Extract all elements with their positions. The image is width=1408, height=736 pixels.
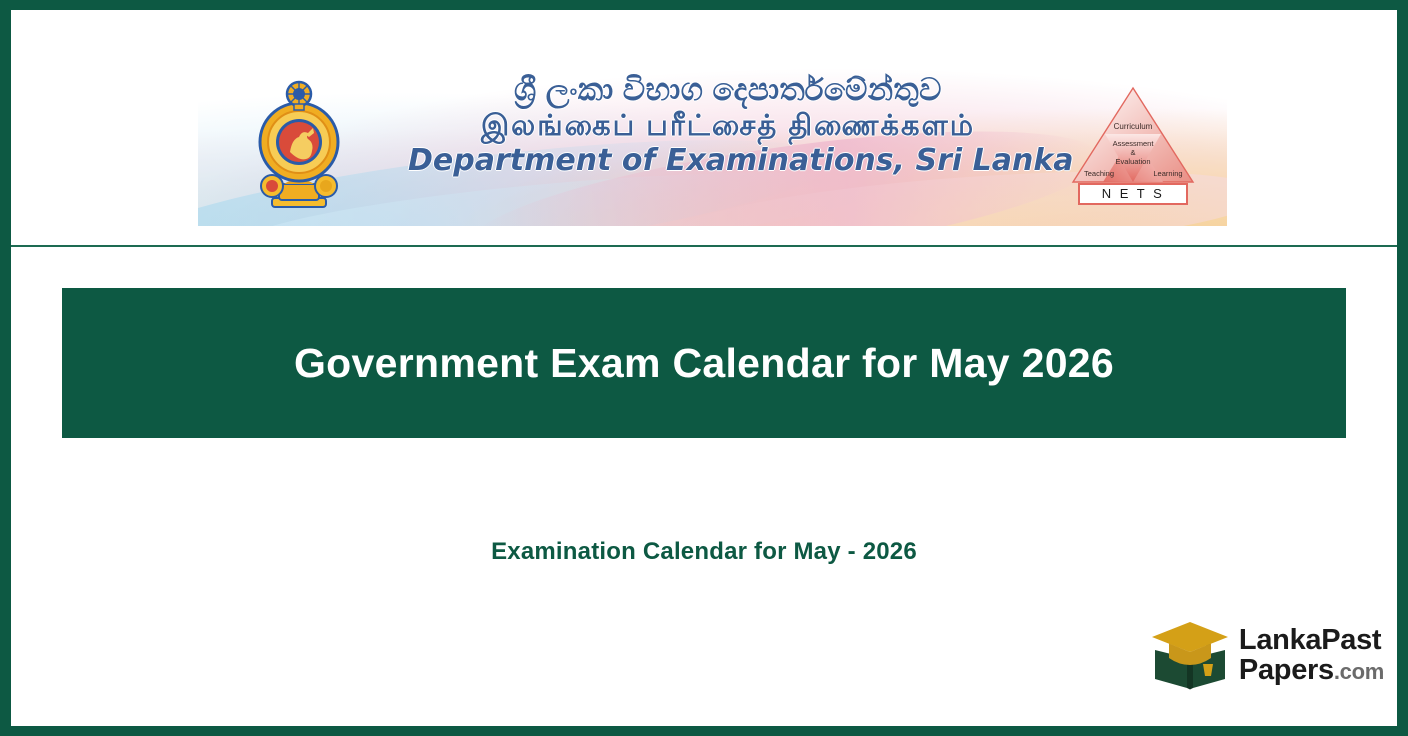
clipped-footer-text: Examination Calendar: [441, 717, 961, 726]
nets-acronym: N E T S: [1102, 186, 1165, 201]
department-name-english: Department of Examinations, Sri Lanka: [408, 143, 1048, 178]
nets-logo-icon: Curriculum Assessment & Evaluation Teach…: [1067, 82, 1199, 210]
sri-lanka-emblem-icon: [246, 80, 352, 212]
graduation-cap-book-icon: [1151, 620, 1229, 692]
nets-label-teaching: Teaching: [1084, 169, 1114, 178]
lankapastpapers-wordmark: LankaPast Papers.com: [1239, 626, 1384, 685]
logo-line-1: LankaPast: [1239, 626, 1384, 656]
lankapastpapers-logo[interactable]: LankaPast Papers.com: [1151, 620, 1384, 692]
logo-line-2: Papers: [1239, 654, 1334, 686]
page-title: Government Exam Calendar for May 2026: [294, 340, 1114, 387]
department-name-tamil: இலங்கைப் பரீட்சைத் திணைக்களம்: [408, 109, 1048, 143]
page-sheet: ශ්‍රී ලංකා විභාග දෙපාර්තමේන්තුව இலங்கைப்…: [11, 10, 1397, 726]
calendar-subtitle: Examination Calendar for May - 2026: [11, 538, 1397, 566]
department-name-sinhala: ශ්‍රී ලංකා විභාග දෙපාර්තමේන්තුව: [408, 72, 1048, 109]
nets-label-curriculum: Curriculum: [1114, 122, 1153, 131]
logo-tld: .com: [1334, 659, 1384, 684]
nets-label-evaluation: Evaluation: [1115, 157, 1150, 166]
letterhead-background: ශ්‍රී ලංකා විභාග දෙපාර්තමේන්තුව இலங்கைப்…: [198, 62, 1227, 226]
title-banner: Government Exam Calendar for May 2026: [62, 288, 1346, 438]
nets-label-assessment: Assessment: [1113, 139, 1155, 148]
document-page: ශ්‍රී ලංකා විභාග දෙපාර්තමේන්තුව இலங்கைப்…: [0, 0, 1408, 736]
department-name-block: ශ්‍රී ලංකා විභාග දෙපාර්තමේන්තුව இலங்கைப்…: [408, 72, 1048, 178]
letterhead-banner: ශ්‍රී ලංකා විභාග දෙපාර්තමේන්තුව இலங்கைப்…: [198, 62, 1227, 226]
header-divider: [11, 245, 1397, 247]
nets-label-ampersand: &: [1130, 148, 1135, 157]
nets-label-learning: Learning: [1153, 169, 1182, 178]
